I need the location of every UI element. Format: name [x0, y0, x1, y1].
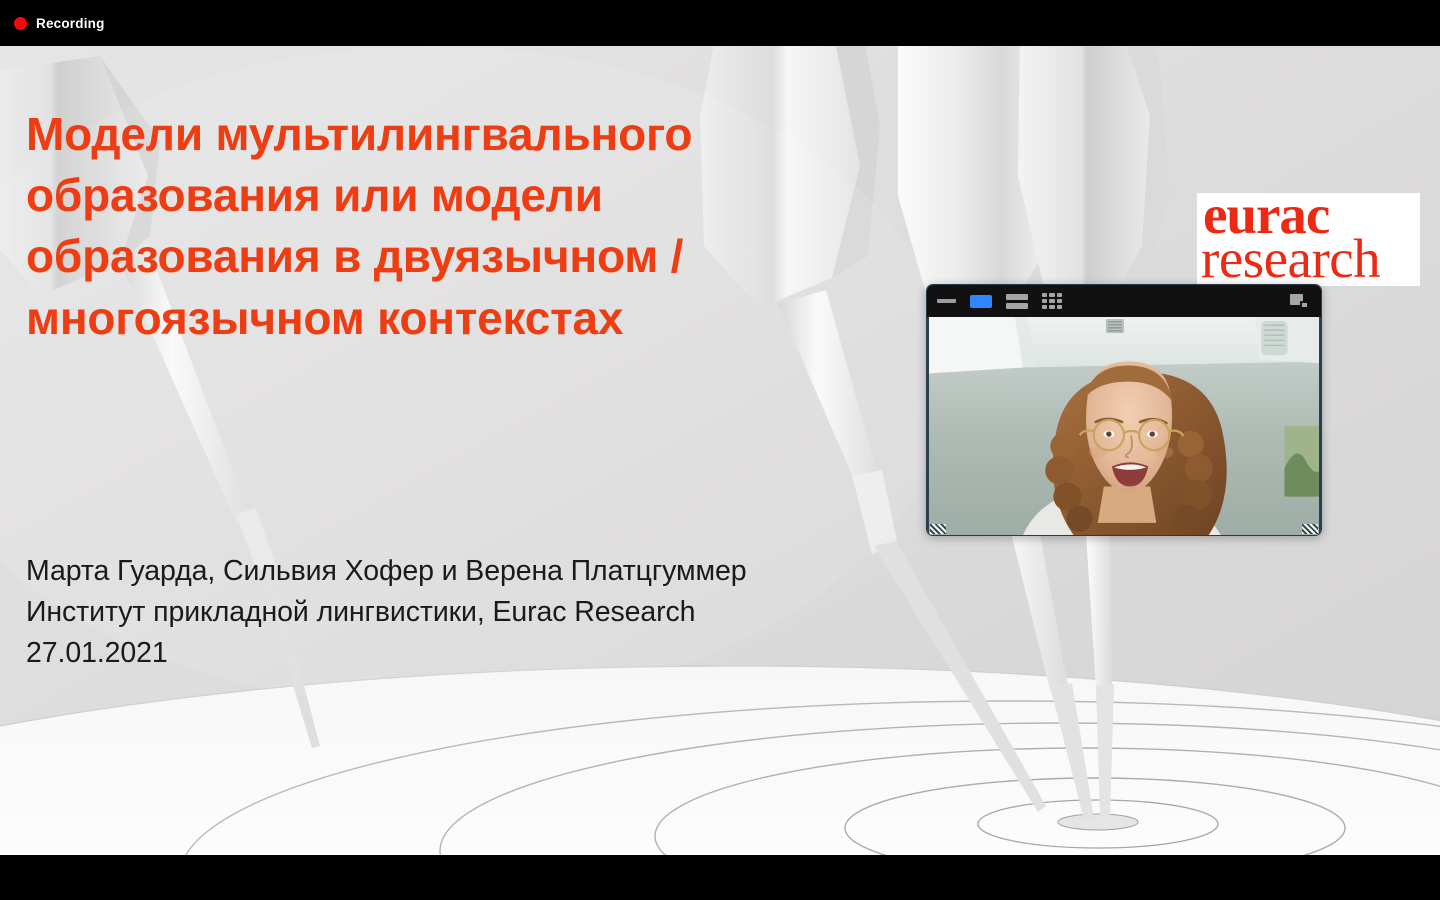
- split-view-button[interactable]: [1006, 294, 1028, 309]
- webcam-image: [929, 317, 1319, 535]
- split-view-icon: [1006, 294, 1028, 309]
- slide-title-line: Модели мультилингвального: [26, 104, 906, 165]
- minimize-icon: [937, 299, 956, 303]
- slide-title: Модели мультилингвального образования ил…: [26, 104, 906, 349]
- slide-title-line: образования в двуязычном /: [26, 226, 906, 287]
- minimize-button[interactable]: [937, 299, 956, 303]
- video-window-toolbar: [927, 285, 1321, 317]
- participant-video-feed[interactable]: [927, 317, 1321, 536]
- recording-dot-icon: [14, 17, 27, 30]
- resize-handle-bottom-left[interactable]: [930, 524, 946, 534]
- slide-title-line: многоязычном контекстах: [26, 288, 906, 349]
- presentation-screen: Recording: [0, 0, 1440, 900]
- picture-in-picture-icon[interactable]: [1290, 294, 1309, 309]
- recording-status-label: Recording: [36, 16, 105, 31]
- eurac-research-logo: eurac research: [1197, 193, 1420, 286]
- speaker-view-button[interactable]: [970, 295, 992, 308]
- slide-authors: Марта Гуарда, Сильвия Хофер и Верена Пла…: [26, 551, 1026, 592]
- video-conference-window[interactable]: [926, 284, 1322, 536]
- speaker-view-icon: [970, 295, 992, 308]
- slide-affiliation: Институт прикладной лингвистики, Eurac R…: [26, 592, 1026, 633]
- slide-subtitle: Марта Гуарда, Сильвия Хофер и Верена Пла…: [26, 551, 1026, 674]
- recording-status-bar: Recording: [0, 0, 1440, 46]
- bottom-letterbox-bar: [0, 855, 1440, 900]
- gallery-view-button[interactable]: [1042, 293, 1062, 309]
- slide-date: 27.01.2021: [26, 633, 1026, 674]
- slide-title-line: образования или модели: [26, 165, 906, 226]
- slide-canvas: Модели мультилингвального образования ил…: [0, 46, 1440, 855]
- resize-handle-bottom-right[interactable]: [1302, 524, 1318, 534]
- gallery-grid-icon: [1042, 293, 1062, 309]
- logo-wordmark-research: research: [1201, 231, 1380, 286]
